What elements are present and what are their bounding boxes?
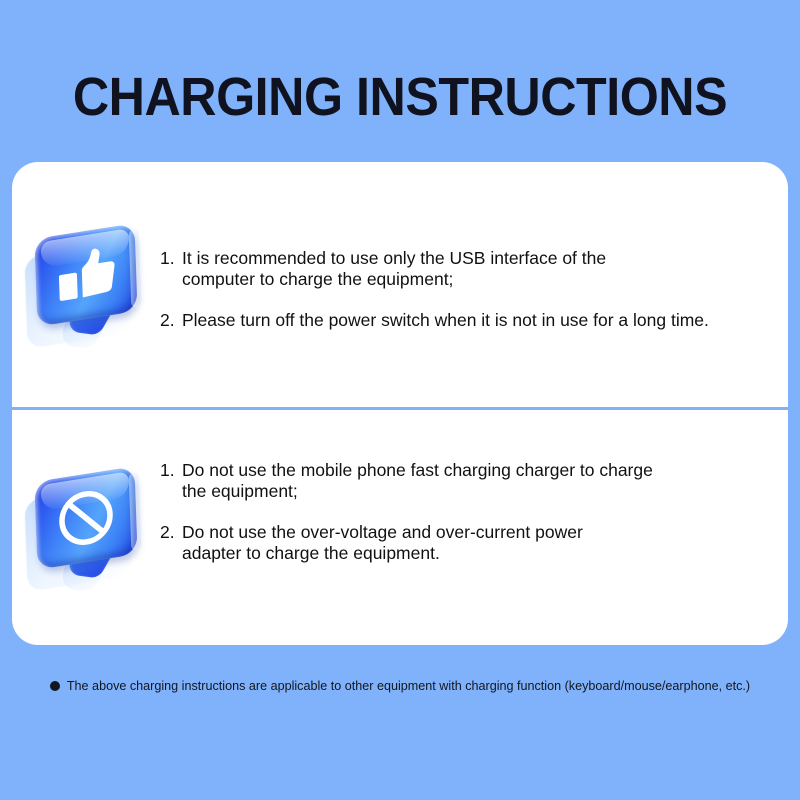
- section-recommended-text: 1. It is recommended to use only the USB…: [160, 162, 788, 331]
- prohibition-icon-glyph: [34, 466, 137, 569]
- list-text: Please turn off the power switch when it…: [182, 310, 772, 331]
- section-prohibited: 1. Do not use the mobile phone fast char…: [12, 410, 788, 645]
- list-text: It is recommended to use only the USB in…: [182, 248, 772, 290]
- filled-circle-bullet-icon: [50, 681, 60, 691]
- thumbs-up-icon: [24, 223, 148, 347]
- section-prohibited-text: 1. Do not use the mobile phone fast char…: [160, 410, 788, 564]
- footer-note-text: The above charging instructions are appl…: [67, 678, 750, 694]
- prohibition-icon: [24, 466, 148, 590]
- recommended-rule-list: 1. It is recommended to use only the USB…: [160, 248, 772, 331]
- list-text: Do not use the over-voltage and over-cur…: [182, 522, 772, 564]
- list-marker: 1.: [160, 460, 175, 481]
- list-text: Do not use the mobile phone fast chargin…: [182, 460, 772, 502]
- list-item: 2. Please turn off the power switch when…: [160, 310, 772, 331]
- list-marker: 2.: [160, 522, 175, 543]
- thumbs-up-icon-glyph: [34, 223, 137, 326]
- footer-note: The above charging instructions are appl…: [0, 678, 800, 694]
- prohibited-rule-list: 1. Do not use the mobile phone fast char…: [160, 460, 772, 564]
- list-item: 1. It is recommended to use only the USB…: [160, 248, 772, 290]
- page-title: CHARGING INSTRUCTIONS: [28, 68, 772, 126]
- list-marker: 1.: [160, 248, 175, 269]
- section-recommended: 1. It is recommended to use only the USB…: [12, 162, 788, 407]
- list-item: 2. Do not use the over-voltage and over-…: [160, 522, 772, 564]
- instructions-card: 1. It is recommended to use only the USB…: [12, 162, 788, 645]
- list-marker: 2.: [160, 310, 175, 331]
- charging-instructions-poster: CHARGING INSTRUCTIONS: [0, 0, 800, 800]
- section-prohibited-icon-col: [12, 410, 160, 645]
- section-recommended-icon-col: [12, 162, 160, 407]
- list-item: 1. Do not use the mobile phone fast char…: [160, 460, 772, 502]
